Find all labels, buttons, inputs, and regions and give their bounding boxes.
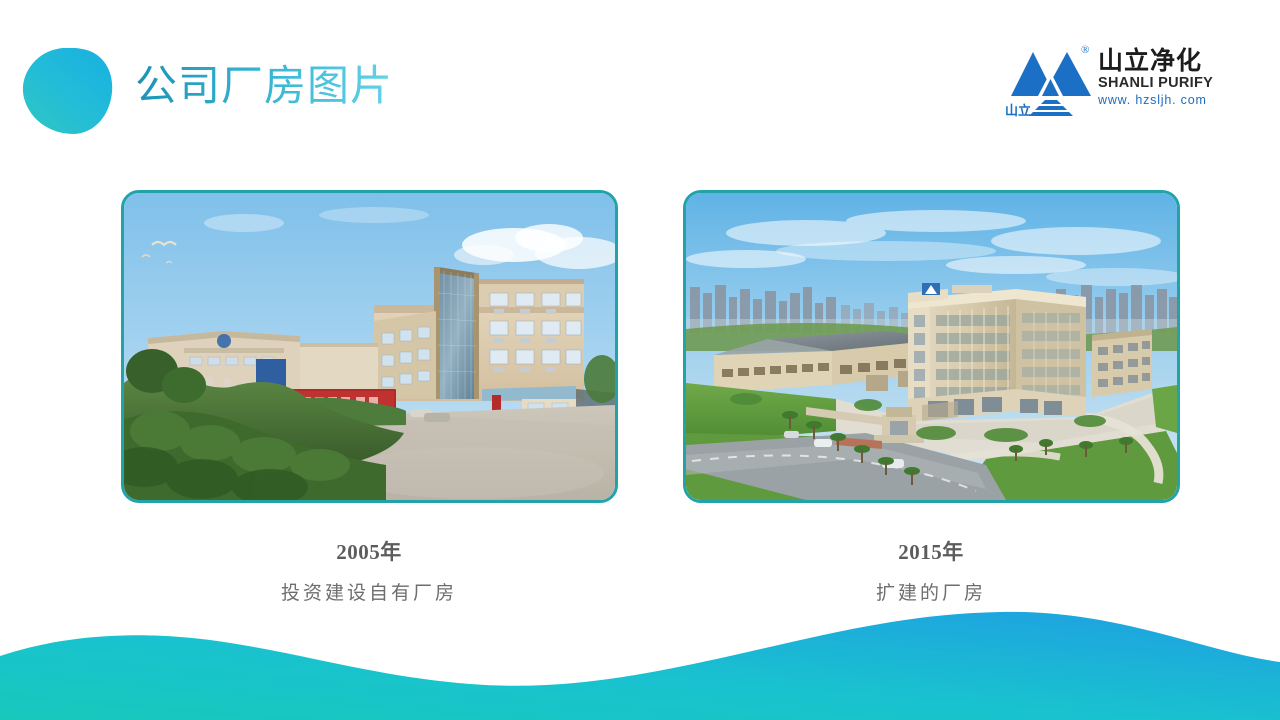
photo-card-2015[interactable] [683,190,1180,503]
factory-photo-2015 [686,193,1177,500]
bottom-wave-decoration [0,590,1280,720]
svg-text:山立: 山立 [1005,103,1031,118]
page-title: 公司厂房图片 [135,62,393,111]
decorative-blob-shape [22,48,114,134]
logo-name-en: SHANLI PURIFY [1098,75,1223,92]
logo-website-url: www. hzsljh. com [1098,93,1223,108]
logo-text-block: 山立净化 SHANLI PURIFY www. hzsljh. com [1098,48,1223,108]
registered-trademark-icon: ® [1081,44,1089,56]
slide-canvas: 公司厂房图片 山立 ® 山立净化 SHANLI PURIFY www. hzsl… [0,0,1280,720]
caption-year-2015: 2015年 [681,536,1181,566]
company-logo: 山立 ® 山立净化 SHANLI PURIFY www. hzsljh. com [1005,42,1220,122]
photo-card-2005[interactable] [121,190,618,503]
factory-photo-2005 [124,193,615,500]
caption-year-2005: 2005年 [119,536,619,566]
logo-name-cn: 山立净化 [1098,48,1223,74]
